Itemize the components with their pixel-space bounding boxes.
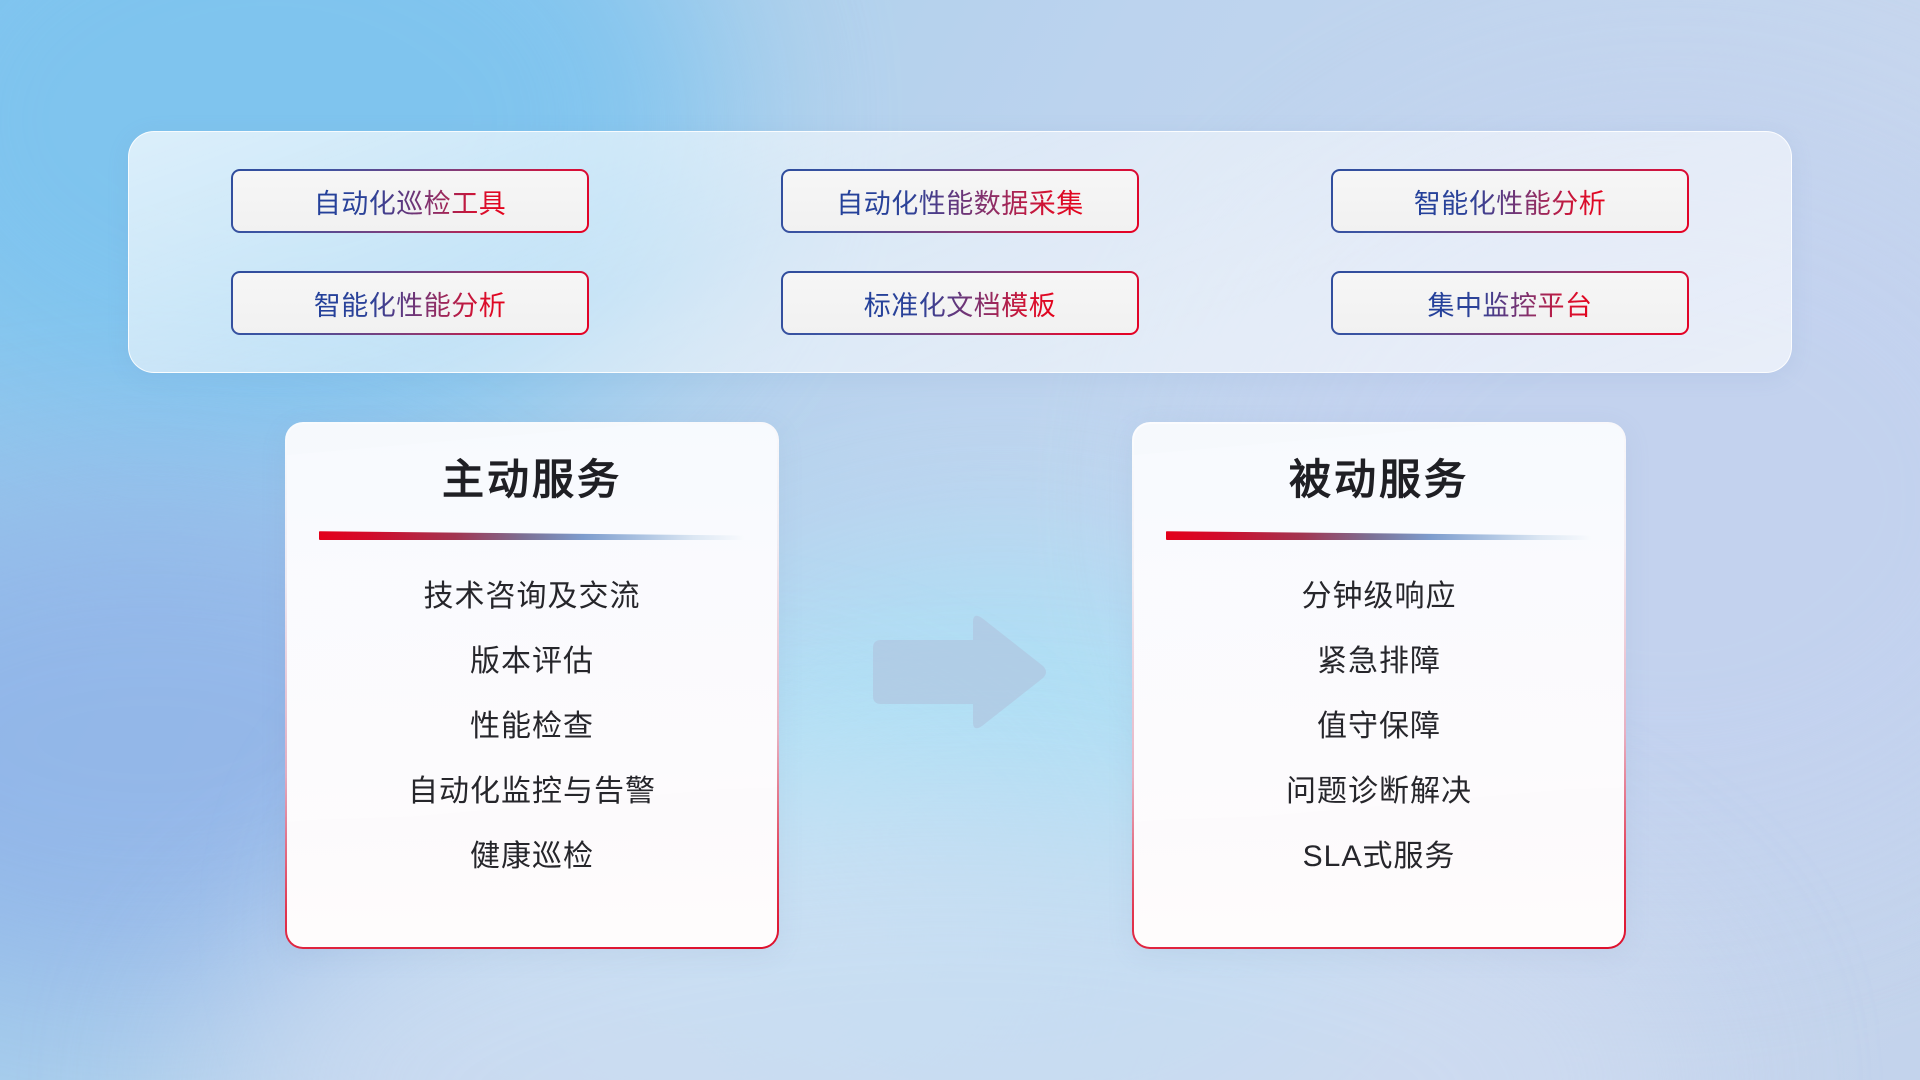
capability-tag-label: 集中监控平台	[1428, 284, 1593, 323]
service-item: 健康巡检	[287, 834, 777, 879]
service-item: 自动化监控与告警	[287, 769, 777, 814]
capability-tag-label: 智能化性能分析	[1414, 182, 1607, 221]
card-title-reactive: 被动服务	[1134, 457, 1624, 503]
service-card-proactive: 主动服务 技术咨询及交流 版本评估 性能检查 自动化监控与告警 健康巡检	[285, 422, 779, 949]
title-divider	[1166, 531, 1592, 540]
service-item: 问题诊断解决	[1134, 769, 1624, 814]
service-item: 技术咨询及交流	[287, 574, 777, 619]
service-item: 分钟级响应	[1134, 574, 1624, 619]
capability-tag-grid: 自动化巡检工具 自动化性能数据采集 智能化性能分析 智能化性能分析 标准化文档模…	[231, 169, 1689, 335]
service-item: 紧急排障	[1134, 639, 1624, 684]
service-item-list: 技术咨询及交流 版本评估 性能检查 自动化监控与告警 健康巡检	[287, 574, 777, 879]
capability-tag-label: 智能化性能分析	[314, 284, 507, 323]
capability-tag-5[interactable]: 标准化文档模板	[781, 271, 1139, 335]
service-card-reactive: 被动服务 分钟级响应 紧急排障 值守保障 问题诊断解决 SLA式服务	[1132, 422, 1626, 949]
capability-tag-6[interactable]: 集中监控平台	[1331, 271, 1689, 335]
service-item: SLA式服务	[1134, 834, 1624, 879]
capability-tag-2[interactable]: 自动化性能数据采集	[781, 169, 1139, 233]
capability-tag-label: 自动化巡检工具	[314, 182, 507, 221]
right-arrow-icon	[869, 612, 1049, 732]
capability-tag-label: 标准化文档模板	[864, 284, 1057, 323]
title-divider	[319, 531, 745, 540]
service-item: 性能检查	[287, 704, 777, 749]
service-item: 版本评估	[287, 639, 777, 684]
capability-tag-panel: 自动化巡检工具 自动化性能数据采集 智能化性能分析 智能化性能分析 标准化文档模…	[128, 131, 1792, 373]
capability-tag-label: 自动化性能数据采集	[836, 182, 1084, 221]
capability-tag-3[interactable]: 智能化性能分析	[1331, 169, 1689, 233]
capability-tag-4[interactable]: 智能化性能分析	[231, 271, 589, 335]
service-item: 值守保障	[1134, 704, 1624, 749]
card-title-proactive: 主动服务	[287, 457, 777, 503]
capability-tag-1[interactable]: 自动化巡检工具	[231, 169, 589, 233]
service-item-list: 分钟级响应 紧急排障 值守保障 问题诊断解决 SLA式服务	[1134, 574, 1624, 879]
